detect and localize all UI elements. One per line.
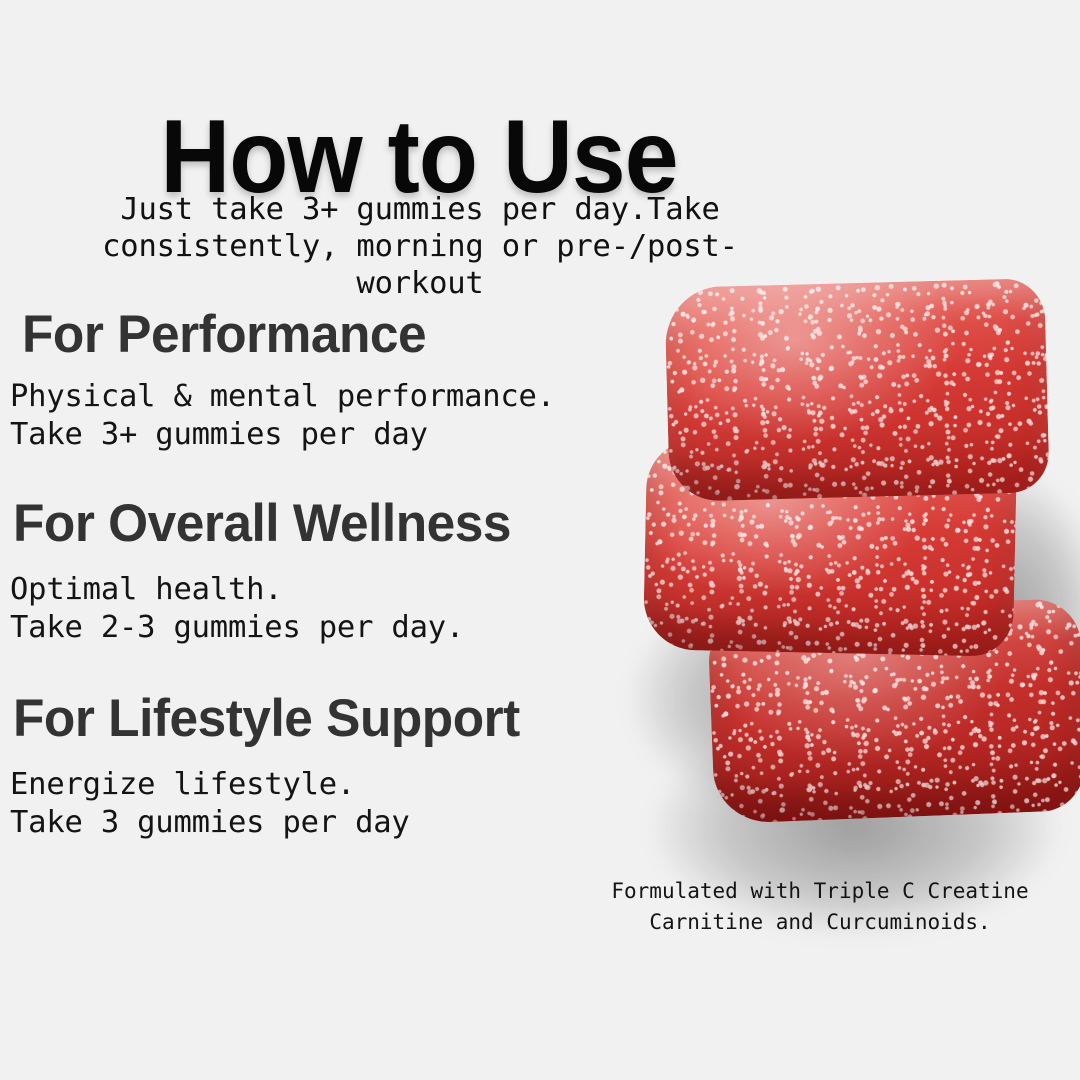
section-for-overall-wellness: For Overall Wellness Optimal health. Tak… (0, 495, 713, 647)
gummy-stack-image (645, 283, 1080, 863)
section-body: Physical & mental performance. Take 3+ g… (10, 378, 722, 454)
section-for-performance: For Performance Physical & mental perfor… (0, 306, 722, 454)
gummy-cube-top (664, 278, 1049, 502)
section-heading: For Performance (22, 306, 701, 364)
section-for-lifestyle-support: For Lifestyle Support Energize lifestyle… (0, 690, 713, 842)
formulation-caption: Formulated with Triple C Creatine Carnit… (560, 876, 1080, 938)
section-body: Energize lifestyle. Take 3 gummies per d… (10, 766, 713, 842)
section-body: Optimal health. Take 2-3 gummies per day… (10, 571, 713, 647)
section-heading: For Overall Wellness (13, 495, 692, 553)
section-heading: For Lifestyle Support (13, 690, 692, 748)
gummy-highlight (664, 278, 1049, 502)
how-to-use-infographic: How to Use Just take 3+ gummies per day.… (0, 0, 1080, 1080)
